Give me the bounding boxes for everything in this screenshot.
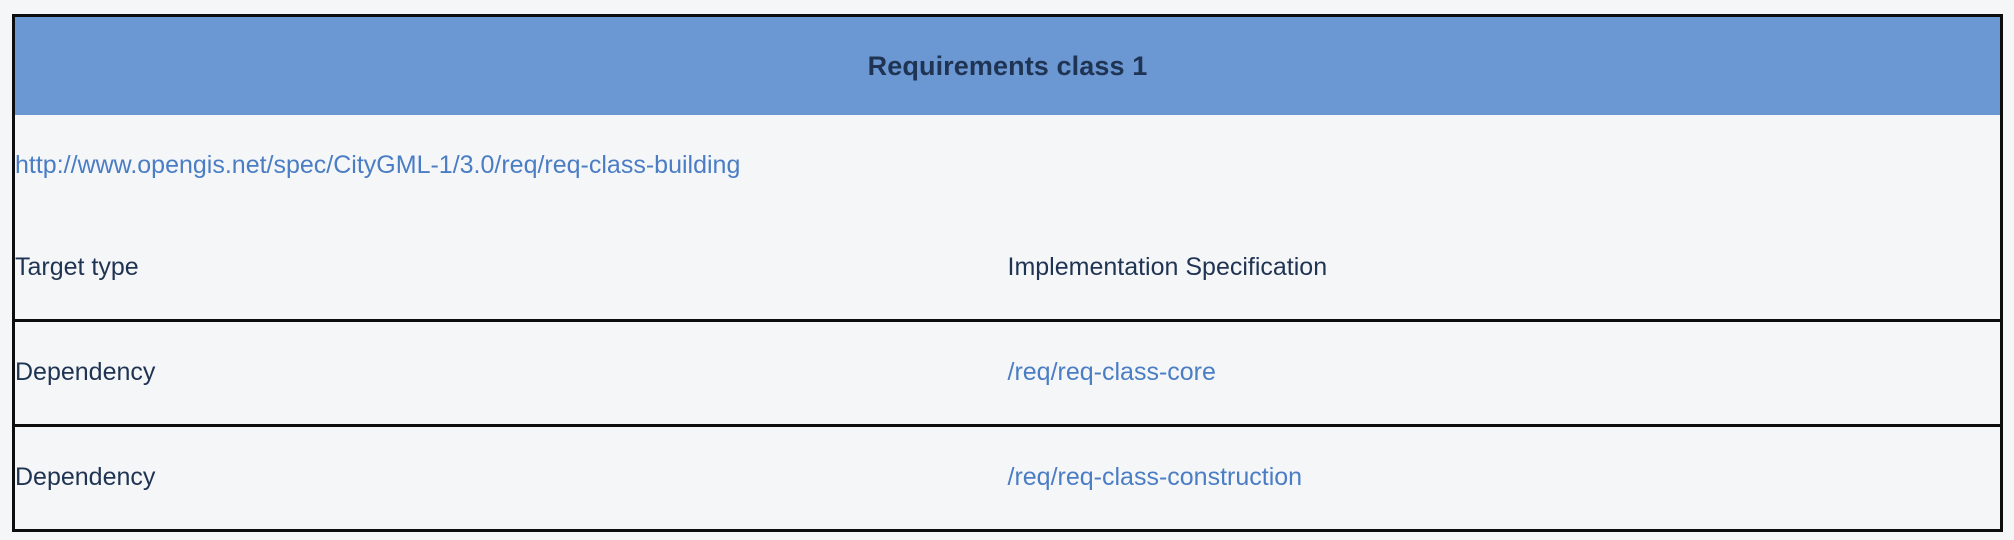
requirements-class-table: Requirements class 1 http://www.opengis.…: [12, 14, 2003, 532]
table-header-row: Requirements class 1: [14, 16, 2002, 116]
requirements-class-uri-cell: http://www.opengis.net/spec/CityGML-1/3.…: [14, 115, 2002, 217]
table-uri-row: http://www.opengis.net/spec/CityGML-1/3.…: [14, 115, 2002, 217]
page-title: Requirements class 1: [15, 50, 2000, 82]
row-label-text: Target type: [15, 253, 139, 281]
row-label-text: Dependency: [15, 463, 155, 491]
row-label-text: Dependency: [15, 358, 155, 386]
row-value-dependency-core: /req/req-class-core: [1008, 321, 2002, 426]
dependency-link-req-class-construction[interactable]: /req/req-class-construction: [1008, 463, 1303, 491]
row-label-target-type: Target type: [14, 217, 1008, 321]
requirements-class-header-cell: Requirements class 1: [14, 16, 2002, 116]
row-label-dependency-construction: Dependency: [14, 426, 1008, 531]
row-value-text: Implementation Specification: [1008, 253, 1328, 281]
table-row: Dependency /req/req-class-construction: [14, 426, 2002, 531]
table-row: Target type Implementation Specification: [14, 217, 2002, 321]
row-value-dependency-construction: /req/req-class-construction: [1008, 426, 2002, 531]
table-row: Dependency /req/req-class-core: [14, 321, 2002, 426]
dependency-link-req-class-core[interactable]: /req/req-class-core: [1008, 358, 1216, 386]
row-value-target-type: Implementation Specification: [1008, 217, 2002, 321]
requirements-class-table-container: Requirements class 1 http://www.opengis.…: [12, 14, 2003, 524]
requirements-class-uri-link[interactable]: http://www.opengis.net/spec/CityGML-1/3.…: [15, 151, 740, 179]
row-label-dependency-core: Dependency: [14, 321, 1008, 426]
